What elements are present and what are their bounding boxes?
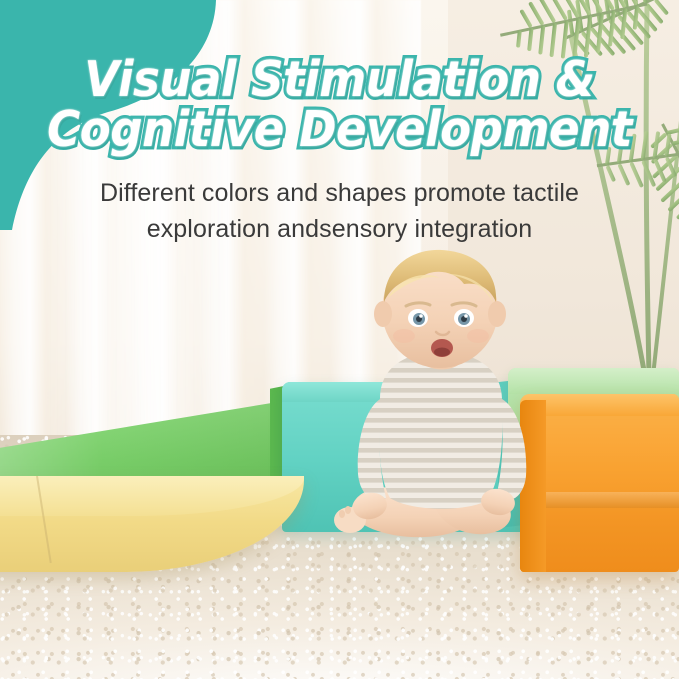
product-banner: Visual Stimulation & Cognitive Developme… [0, 0, 679, 679]
lifestyle-photo [0, 0, 679, 679]
baby-subject [328, 248, 552, 564]
orange-block-seam [546, 492, 679, 508]
